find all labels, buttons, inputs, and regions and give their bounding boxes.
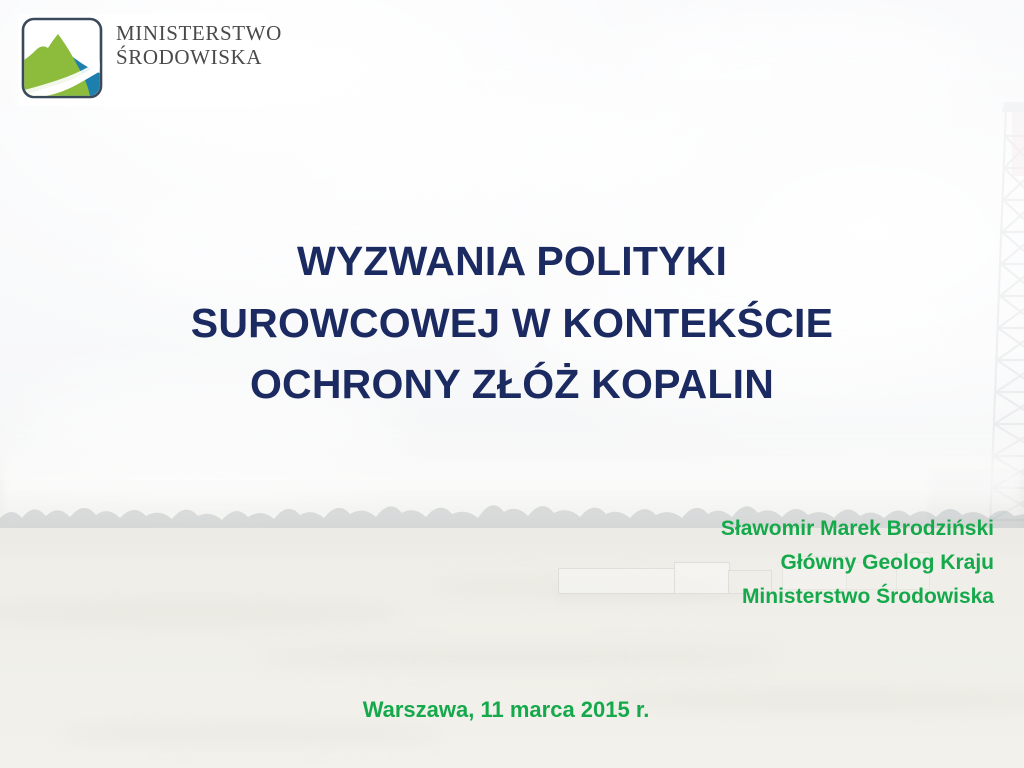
author-block: Sławomir Marek Brodziński Główny Geolog … [721, 512, 994, 614]
ground-streak [0, 600, 400, 626]
ministerstwo-srodowiska-logo: MINISTERSTWO ŚRODOWISKA [18, 14, 266, 106]
logo-line-1: MINISTERSTWO [116, 21, 282, 45]
place-and-date-text: Warszawa, 11 marca 2015 r. [363, 697, 650, 723]
place-and-date: Warszawa, 11 marca 2015 r. [0, 697, 1024, 723]
site-container [558, 568, 676, 594]
author-institution: Ministerstwo Środowiska [721, 580, 994, 614]
author-role: Główny Geolog Kraju [721, 546, 994, 580]
ground-streak [60, 724, 440, 744]
cloud-smudge [640, 10, 970, 130]
logo-line-2: ŚRODOWISKA [116, 46, 282, 70]
title-line-1: WYZWANIA POLITYKI [0, 231, 1024, 293]
slide-title: WYZWANIA POLITYKI SUROWCOWEJ W KONTEKŚCI… [0, 231, 1024, 416]
logo-wordmark: MINISTERSTWO ŚRODOWISKA [116, 22, 282, 69]
title-line-2: SUROWCOWEJ W KONTEKŚCIE [0, 293, 1024, 355]
ground-streak [260, 646, 780, 668]
author-name: Sławomir Marek Brodziński [721, 512, 994, 546]
mountain-and-water-icon [20, 16, 104, 100]
presentation-slide: MINISTERSTWO ŚRODOWISKA WYZWANIA POLITYK… [0, 0, 1024, 768]
title-line-3: OCHRONY ZŁÓŻ KOPALIN [0, 354, 1024, 416]
